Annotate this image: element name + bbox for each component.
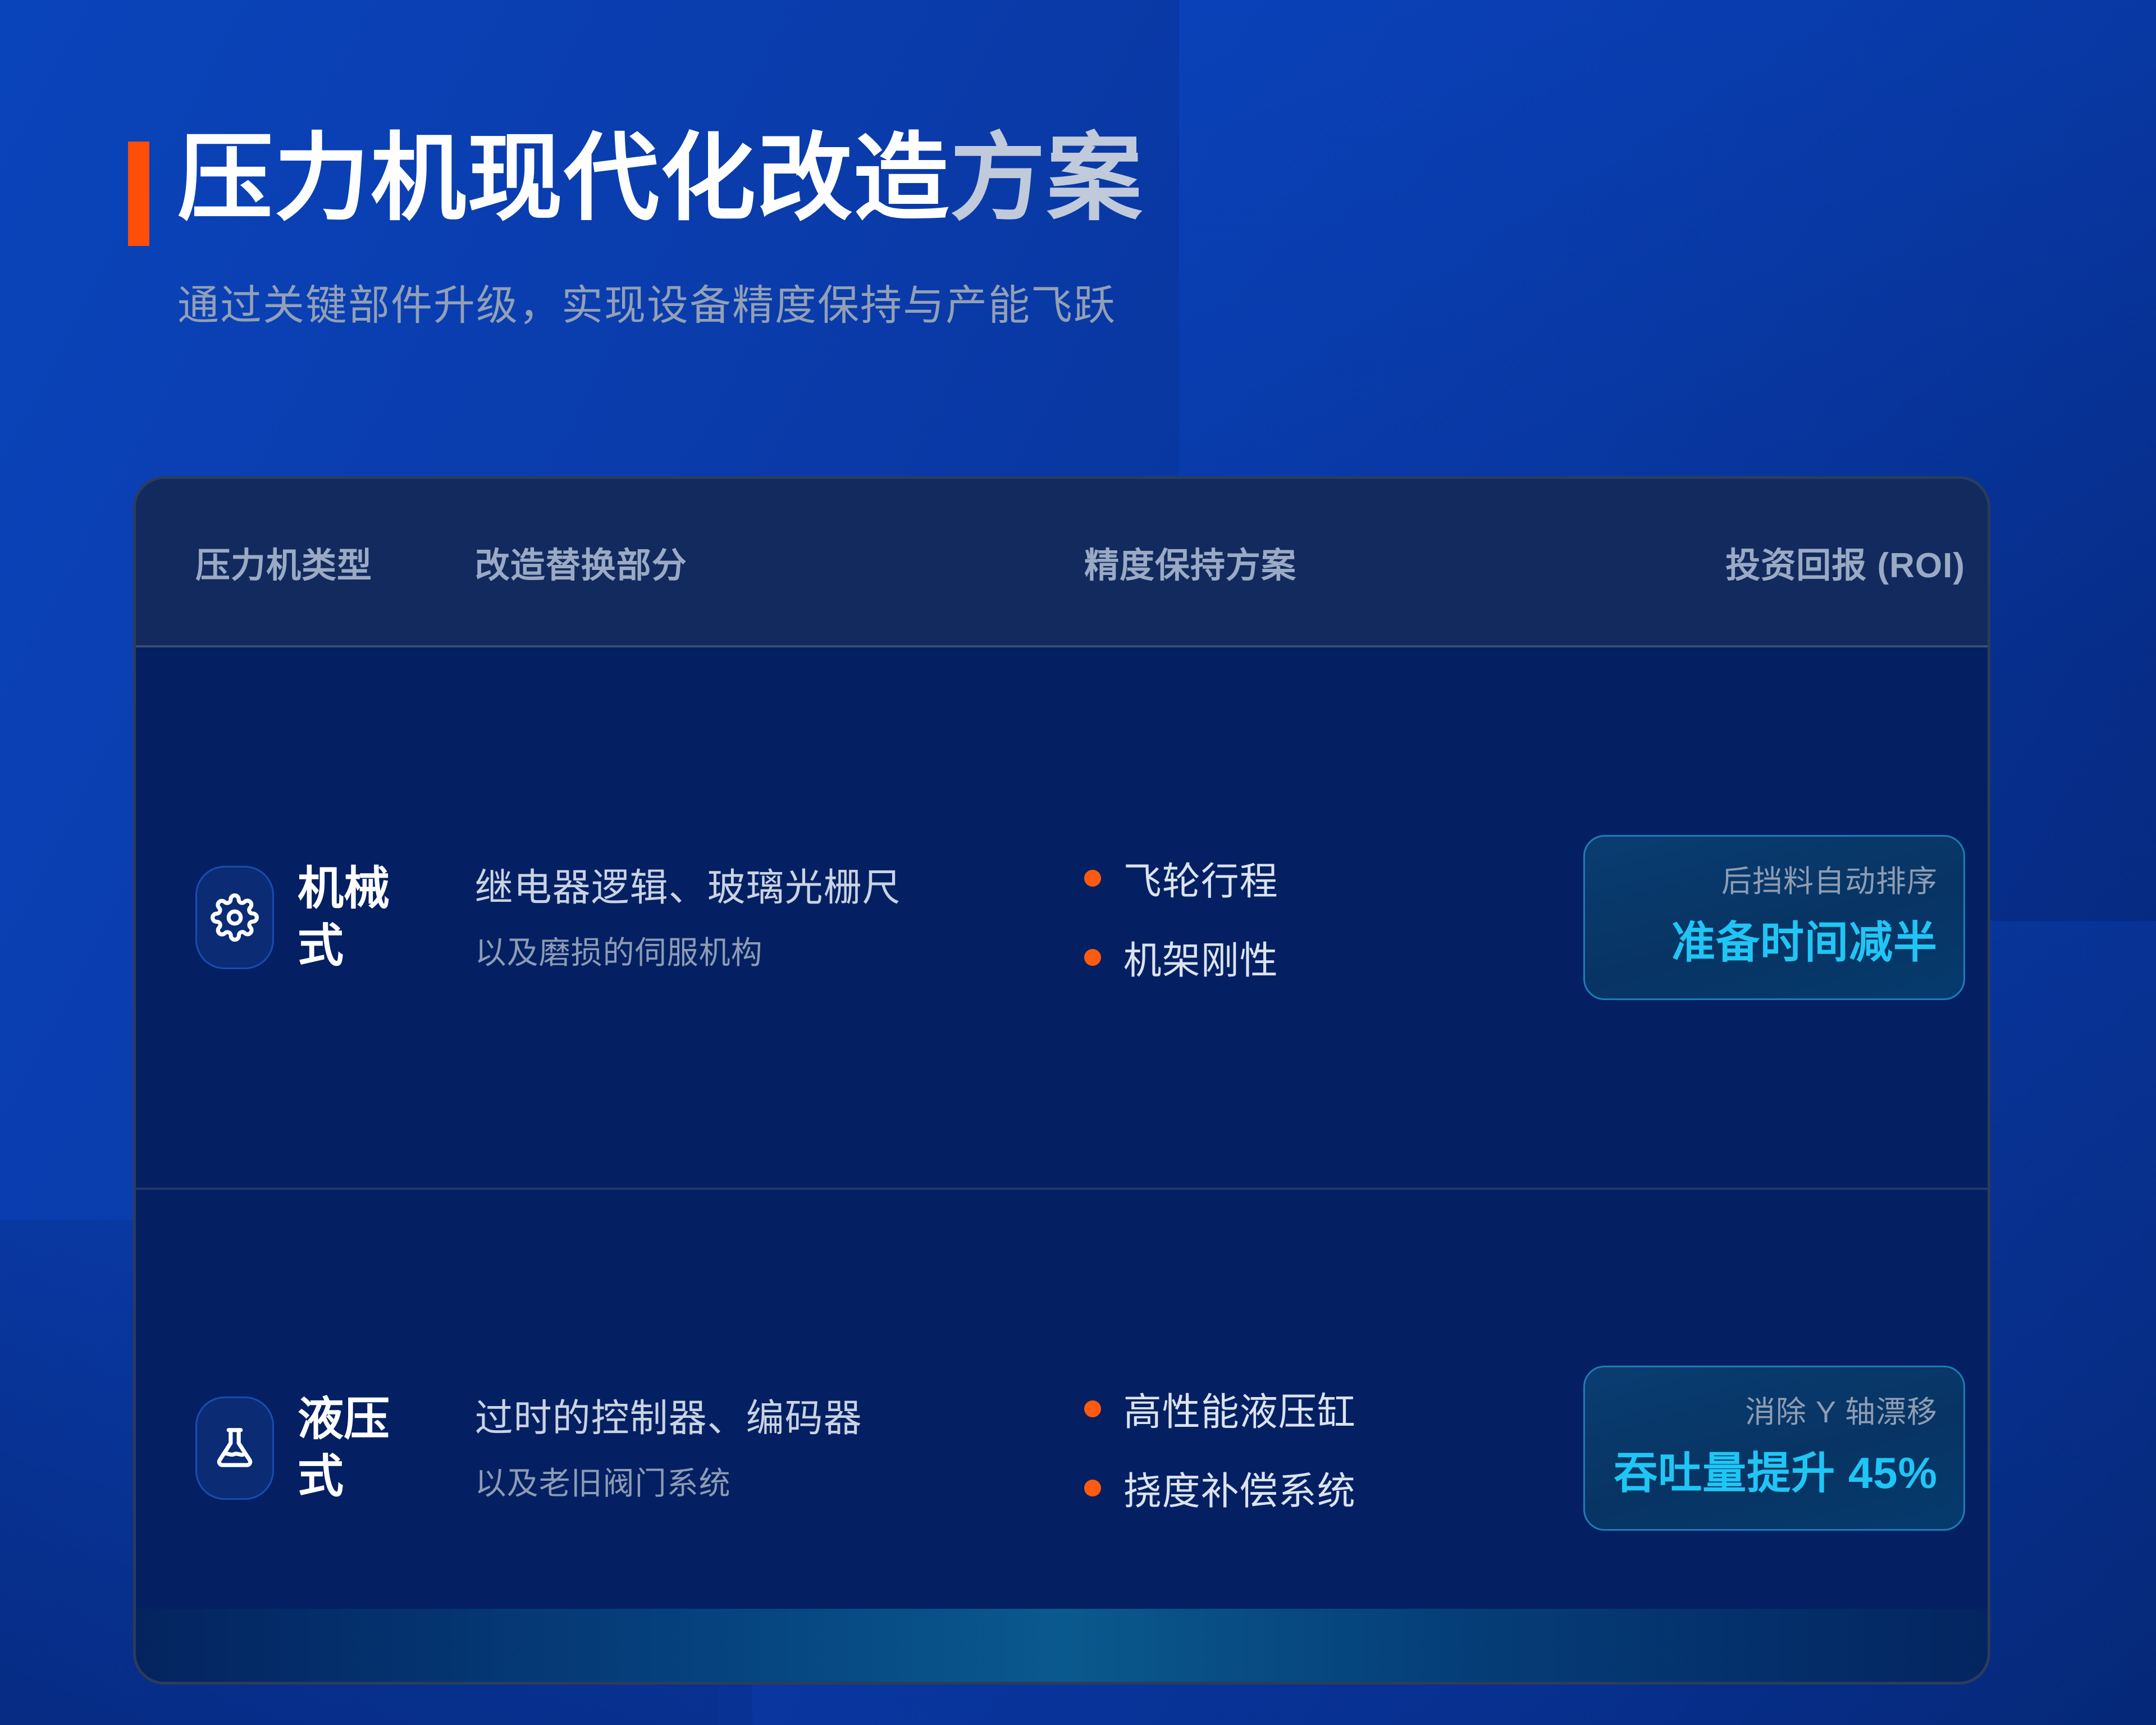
row-parts-main: 继电器逻辑、玻璃光栅尺 — [475, 862, 1045, 915]
column-header-accuracy: 精度保持方案 — [1045, 537, 1583, 587]
row-parts-main: 过时的控制器、编码器 — [475, 1393, 1045, 1445]
list-item: 挠度补偿系统 — [1084, 1460, 1583, 1516]
page-subtitle: 通过关键部件升级，实现设备精度保持与产能飞跃 — [177, 272, 1588, 332]
accuracy-item-label: 机架刚性 — [1123, 929, 1278, 985]
gear-icon — [195, 866, 274, 969]
title-accent-bar — [128, 142, 149, 246]
column-header-roi: 投资回报 (ROI) — [1583, 537, 1988, 587]
roi-note: 消除 Y 轴漂移 — [1611, 1392, 1938, 1432]
page-title-tail: 方案 — [950, 125, 1143, 232]
row-parts-sub: 以及磨损的伺服机构 — [475, 928, 1045, 973]
card-footer-accent-strip — [136, 1609, 1988, 1682]
accuracy-bullet-list: 高性能液压缸 挠度补偿系统 — [1084, 1381, 1583, 1516]
accuracy-item-label: 高性能液压缸 — [1123, 1381, 1356, 1436]
page-header: 压力机现代化改造方案 通过关键部件升级，实现设备精度保持与产能飞跃 — [128, 129, 1588, 332]
row-roi-cell: 后挡料自动排序 准备时间减半 — [1583, 835, 1988, 1000]
roi-value: 准备时间减半 — [1611, 914, 1938, 971]
column-header-parts: 改造替换部分 — [450, 537, 1045, 587]
accuracy-item-label: 飞轮行程 — [1123, 850, 1278, 906]
row-type-cell: 机械式 — [136, 860, 450, 975]
accuracy-item-label: 挠度补偿系统 — [1123, 1460, 1356, 1516]
row-accuracy-cell: 飞轮行程 机架刚性 — [1045, 850, 1583, 985]
modernization-table-card: 压力机类型 改造替换部分 精度保持方案 投资回报 (ROI) 机械式 继电器逻辑… — [133, 476, 1990, 1685]
roi-card: 消除 Y 轴漂移 吞吐量提升 45% — [1583, 1366, 1965, 1531]
row-accuracy-cell: 高性能液压缸 挠度补偿系统 — [1045, 1381, 1583, 1516]
table-header-row: 压力机类型 改造替换部分 精度保持方案 投资回报 (ROI) — [136, 479, 1988, 647]
row-type-label: 液压式 — [298, 1391, 427, 1506]
roi-value: 吞吐量提升 45% — [1611, 1445, 1938, 1502]
list-item: 机架刚性 — [1084, 929, 1583, 985]
bullet-dot-icon — [1084, 1400, 1101, 1417]
accuracy-bullet-list: 飞轮行程 机架刚性 — [1084, 850, 1583, 985]
row-parts-cell: 过时的控制器、编码器 以及老旧阀门系统 — [450, 1393, 1045, 1504]
flask-icon — [195, 1397, 274, 1500]
title-row: 压力机现代化改造方案 — [128, 129, 1588, 246]
list-item: 高性能液压缸 — [1084, 1381, 1583, 1436]
page-title: 压力机现代化改造方案 — [177, 129, 1143, 229]
bullet-dot-icon — [1084, 870, 1101, 887]
bullet-dot-icon — [1084, 949, 1101, 966]
bullet-dot-icon — [1084, 1480, 1101, 1496]
list-item: 飞轮行程 — [1084, 850, 1583, 906]
page-title-main: 压力机现代化改造 — [177, 125, 950, 232]
table-row: 机械式 继电器逻辑、玻璃光栅尺 以及磨损的伺服机构 飞轮行程 机架刚性 后挡料自… — [136, 647, 1988, 1190]
roi-card: 后挡料自动排序 准备时间减半 — [1583, 835, 1965, 1000]
row-type-cell: 液压式 — [136, 1391, 450, 1506]
row-type-label: 机械式 — [298, 860, 427, 975]
row-parts-cell: 继电器逻辑、玻璃光栅尺 以及磨损的伺服机构 — [450, 862, 1045, 974]
row-parts-sub: 以及老旧阀门系统 — [475, 1458, 1045, 1504]
roi-note: 后挡料自动排序 — [1611, 861, 1938, 902]
column-header-type: 压力机类型 — [136, 537, 450, 587]
row-roi-cell: 消除 Y 轴漂移 吞吐量提升 45% — [1583, 1366, 1988, 1531]
